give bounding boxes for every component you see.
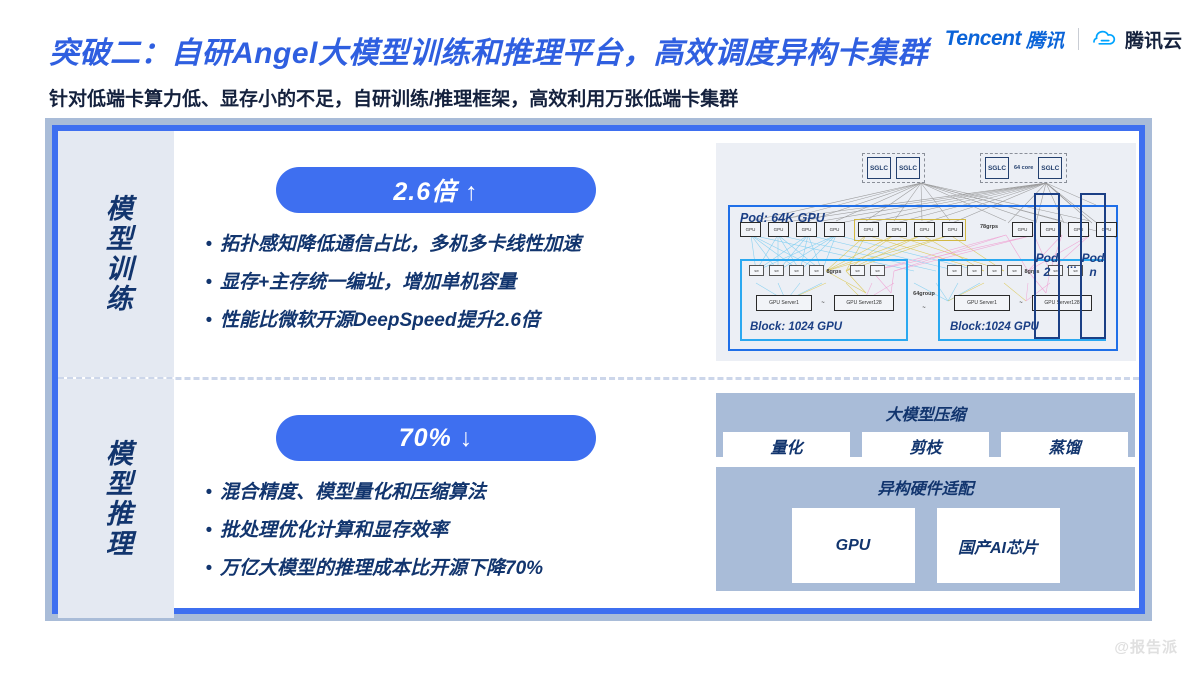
list-item: • 批处理优化计算和显存效率 — [198, 517, 708, 544]
sglc-switch-icon: SGLC — [867, 157, 891, 179]
slide-root: 突破二：自研Angel大模型训练和推理平台，高效调度异构卡集群 针对低端卡算力低… — [0, 0, 1200, 675]
leaf-switch-icon: GPU — [914, 222, 935, 237]
extra-pod-columns: Pod 2 … Pod n — [1030, 143, 1138, 361]
inference-metric-badge: 70% ↓ — [276, 415, 596, 461]
panel-item-gpu: GPU — [792, 508, 915, 583]
bullet-dot-icon: • — [198, 231, 220, 258]
watermark: @报告派 — [1114, 636, 1178, 657]
tencent-cloud-icon — [1093, 29, 1119, 49]
block-label-2: Block:1024 GPU — [950, 321, 1039, 333]
block-label-1: Block: 1024 GPU — [750, 321, 842, 333]
list-item: • 拓扑感知降低通信占比，多机多卡线性加速 — [198, 231, 708, 258]
page-subtitle: 针对低端卡算力低、显存小的不足，自研训练/推理框架，高效利用万张低端卡集群 — [49, 84, 738, 111]
inference-bullet-list: • 混合精度、模型量化和压缩算法 • 批处理优化计算和显存效率 • 万亿大模型的… — [198, 479, 708, 593]
pod-index: 2 — [1044, 265, 1051, 279]
group-dash-label: ~ — [908, 305, 940, 312]
logo-divider — [1078, 28, 1079, 50]
tencent-wordmark-cn: 腾讯 — [1026, 26, 1064, 53]
inference-visual: 大模型压缩 量化 剪枝 蒸馏 异构硬件适配 GPU 国产AI芯片 — [708, 379, 1139, 618]
spine-switch-icon: sw — [749, 265, 764, 276]
gpu-server-last: GPU Server128 — [834, 295, 894, 311]
panel-item-distillation: 蒸馏 — [1001, 432, 1128, 459]
pod-ellipsis: … — [1066, 259, 1077, 271]
bullet-dot-icon: • — [198, 517, 220, 544]
brand-logo: Tencent 腾讯 腾讯云 — [945, 24, 1182, 54]
gpu-server-first: GPU Server1 — [756, 295, 812, 311]
pod-column-label: Pod n — [1082, 252, 1105, 280]
training-bullet-list: • 拓扑感知降低通信占比，多机多卡线性加速 • 显存+主存统一编址，增加单机容量… — [198, 231, 708, 345]
pod-index: n — [1089, 265, 1096, 279]
content-frame-inner: 模型训练 2.6倍 ↑ • 拓扑感知降低通信占比，多机多卡线性加速 • 显存+主… — [52, 125, 1145, 614]
leaf-switch-icon: GPU — [942, 222, 963, 237]
leaf-switch-icon: GPU — [886, 222, 907, 237]
panel-title: 异构硬件适配 — [877, 475, 973, 499]
panel-model-compression: 大模型压缩 量化 剪枝 蒸馏 — [716, 393, 1135, 457]
bullet-text: 万亿大模型的推理成本比开源下降70% — [220, 555, 543, 582]
training-content: 2.6倍 ↑ • 拓扑感知降低通信占比，多机多卡线性加速 • 显存+主存统一编址… — [174, 131, 708, 377]
pod-name: Pod — [1082, 251, 1105, 265]
panel-item-list: 量化 剪枝 蒸馏 — [723, 432, 1128, 459]
spine-group-label: 78grps — [972, 224, 1006, 231]
training-visual: SGLC SGLC SGLC 64 core SGLC Pod: 64K GPU — [708, 131, 1139, 377]
inference-content: 70% ↓ • 混合精度、模型量化和压缩算法 • 批处理优化计算和显存效率 • — [174, 379, 708, 618]
tencent-wordmark: Tencent — [945, 27, 1021, 51]
spine-switch-icon: sw — [947, 265, 962, 276]
panel-item-pruning: 剪枝 — [862, 432, 989, 459]
section-model-training: 模型训练 2.6倍 ↑ • 拓扑感知降低通信占比，多机多卡线性加速 • 显存+主… — [58, 131, 1139, 377]
bullet-dot-icon: • — [198, 307, 220, 334]
block2-spine-row: sw sw sw sw — [947, 265, 1022, 276]
sglc-switch-icon: SGLC — [985, 157, 1009, 179]
panel-item-list: GPU 国产AI芯片 — [792, 508, 1060, 583]
section-label-training-text: 模型训练 — [99, 194, 133, 314]
list-item: • 性能比微软开源DeepSpeed提升2.6倍 — [198, 307, 708, 334]
bullet-text: 拓扑感知降低通信占比，多机多卡线性加速 — [220, 231, 581, 258]
panel-item-quantization: 量化 — [723, 432, 850, 459]
panel-title: 大模型压缩 — [885, 401, 965, 425]
spine-switch-icon: sw — [987, 265, 1002, 276]
spine-switch-icon: sw — [967, 265, 982, 276]
list-item: • 显存+主存统一编址，增加单机容量 — [198, 269, 708, 296]
block1-mid-label: 8grps — [822, 269, 846, 276]
sglc-switch-icon: SGLC — [896, 157, 920, 179]
panel-hardware-adaptation: 异构硬件适配 GPU 国产AI芯片 — [716, 467, 1135, 591]
leaf-switch-row-a: GPU GPU GPU GPU — [740, 222, 845, 237]
block1-spine-row: sw sw sw sw — [749, 265, 824, 276]
leaf-switch-icon: GPU — [768, 222, 789, 237]
bullet-dot-icon: • — [198, 269, 220, 296]
training-metric-badge: 2.6倍 ↑ — [276, 167, 596, 213]
pod-name: Pod — [1036, 251, 1059, 265]
section-label-inference: 模型推理 — [58, 379, 174, 618]
leaf-switch-icon: GPU — [740, 222, 761, 237]
leaf-switch-icon: GPU — [796, 222, 817, 237]
server-range-dash: ~ — [1014, 300, 1028, 307]
bullet-dot-icon: • — [198, 479, 220, 506]
spine-switch-icon: sw — [870, 265, 885, 276]
page-title: 突破二：自研Angel大模型训练和推理平台，高效调度异构卡集群 — [49, 28, 928, 72]
server-range-dash: ~ — [816, 300, 830, 307]
bullet-text: 混合精度、模型量化和压缩算法 — [220, 479, 486, 506]
pod-column: Pod 2 — [1034, 193, 1060, 339]
panel-item-domestic-ai-chip: 国产AI芯片 — [937, 508, 1060, 583]
tencent-cloud-label: 腾讯云 — [1125, 26, 1182, 53]
list-item: • 万亿大模型的推理成本比开源下降70% — [198, 555, 708, 582]
bullet-text: 性能比微软开源DeepSpeed提升2.6倍 — [220, 307, 540, 334]
group-count-label: 64group — [908, 291, 940, 298]
list-item: • 混合精度、模型量化和压缩算法 — [198, 479, 708, 506]
block1-spine-row-2: sw sw — [850, 265, 885, 276]
spine-switch-icon: sw — [769, 265, 784, 276]
bullet-dot-icon: • — [198, 555, 220, 582]
spine-switch-icon: sw — [789, 265, 804, 276]
pod-column: Pod n — [1080, 193, 1106, 339]
switch-group-1: SGLC SGLC — [862, 153, 925, 183]
section-label-training: 模型训练 — [58, 131, 174, 377]
bullet-text: 批处理优化计算和显存效率 — [220, 517, 448, 544]
leaf-switch-icon: GPU — [858, 222, 879, 237]
spine-switch-icon: sw — [850, 265, 865, 276]
leaf-switch-row-b: GPU GPU GPU GPU — [858, 222, 963, 237]
gpu-server-first: GPU Server1 — [954, 295, 1010, 311]
section-model-inference: 模型推理 70% ↓ • 混合精度、模型量化和压缩算法 • 批处理优化计算和显存… — [58, 379, 1139, 618]
bullet-text: 显存+主存统一编址，增加单机容量 — [220, 269, 516, 296]
section-label-inference-text: 模型推理 — [99, 439, 133, 559]
pod-column-label: Pod 2 — [1036, 252, 1059, 280]
content-frame: 模型训练 2.6倍 ↑ • 拓扑感知降低通信占比，多机多卡线性加速 • 显存+主… — [45, 118, 1152, 621]
leaf-switch-icon: GPU — [824, 222, 845, 237]
